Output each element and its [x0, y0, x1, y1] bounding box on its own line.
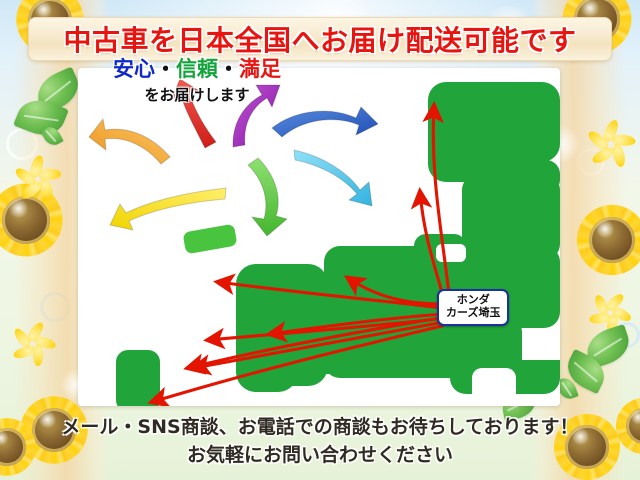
dealer-callout-box: ホンダ カーズ埼玉 — [437, 289, 509, 326]
mini-flower-icon — [12, 318, 54, 360]
mini-flower-icon — [590, 288, 630, 328]
map-region-kinki-cut — [472, 368, 516, 396]
footer-line-2: お気軽にお問い合わせください — [0, 442, 640, 470]
headline-text: 中古車を日本全国へお届け配送可能です — [63, 19, 576, 59]
sunflower-icon — [562, 190, 640, 290]
map-region-kanto-notch — [484, 160, 560, 194]
map-region-kyushu — [116, 350, 160, 406]
footer-line-1: メール・SNS商談、お電話での商談もお待ちしております！ — [0, 414, 640, 442]
footer-block: メール・SNS商談、お電話での商談もお待ちしております！ お気軽にお問い合わせく… — [0, 414, 640, 469]
map-region-shikoku — [272, 320, 346, 374]
dealer-name-line-2: カーズ埼玉 — [446, 307, 500, 320]
mini-flower-icon — [16, 152, 60, 196]
mini-flower-icon — [588, 116, 634, 162]
map-region-chubu-hole — [436, 244, 466, 262]
headline-banner: 中古車を日本全国へお届け配送可能です — [28, 17, 612, 61]
map-panel — [78, 68, 560, 406]
map-region-hokkaido — [182, 224, 237, 255]
promo-banner-image: 中古車を日本全国へお届け配送可能です — [0, 0, 640, 480]
